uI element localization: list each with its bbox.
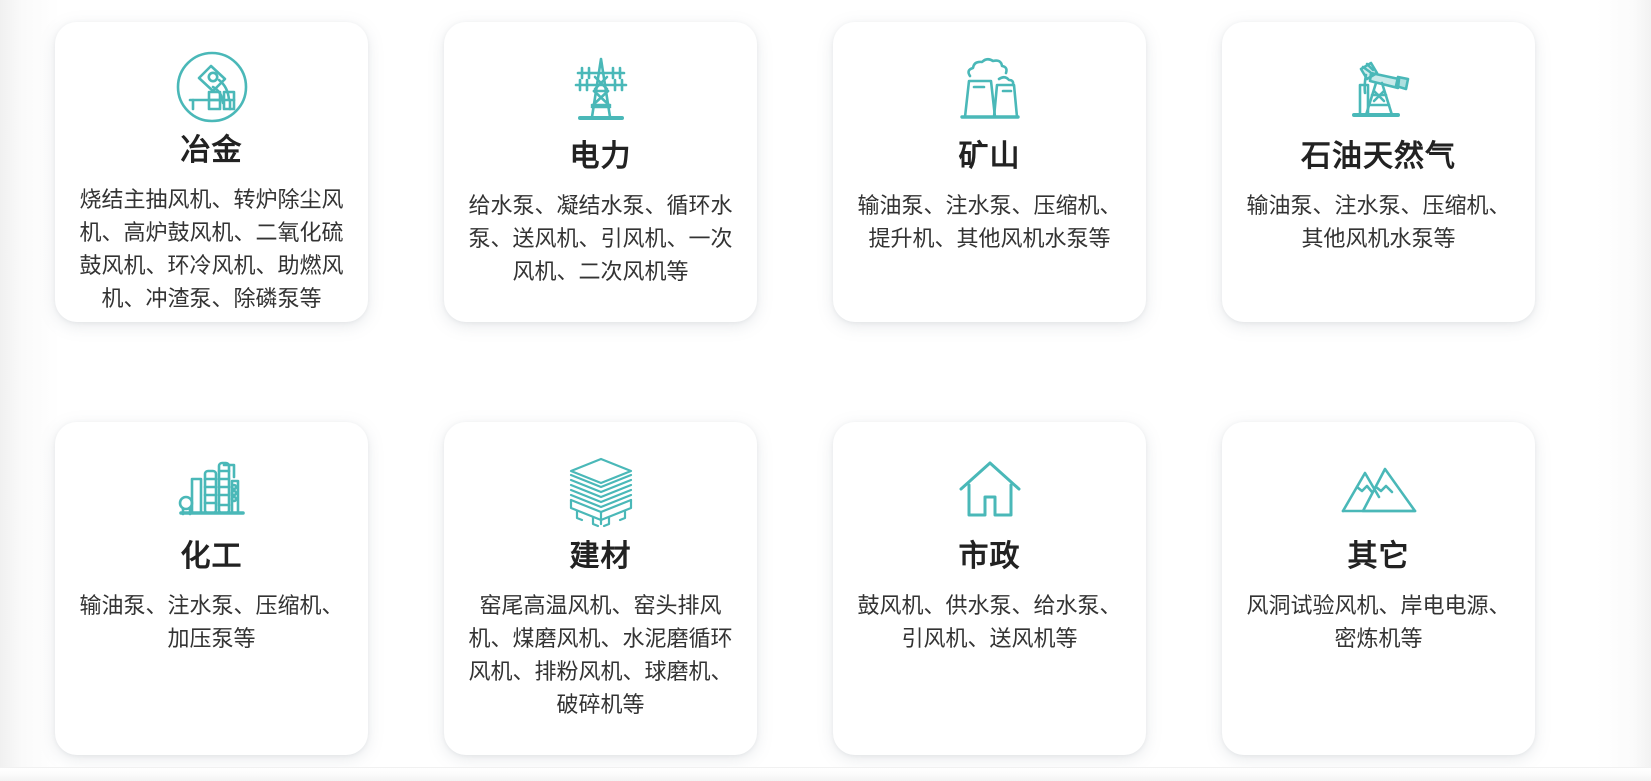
card-description: 输油泵、注水泵、压缩机、其他风机水泵等 [1240,189,1517,255]
chemical-plant-towers-icon [169,444,255,536]
industry-card-chemical[interactable]: 化工 输油泵、注水泵、压缩机、加压泵等 [55,422,368,755]
card-title: 其它 [1348,540,1410,573]
metallurgy-ladle-icon [169,44,255,130]
industry-card-oil-gas[interactable]: 石油天然气 输油泵、注水泵、压缩机、其他风机水泵等 [1222,22,1535,322]
municipal-house-icon [947,444,1033,536]
card-title: 化工 [181,540,243,573]
mine-factory-smokestack-icon [947,44,1033,136]
industry-card-grid: 冶金 烧结主抽风机、转炉除尘风机、高炉鼓风机、二氧化硫鼓风机、环冷风机、助燃风机… [0,0,1651,781]
card-description: 输油泵、注水泵、压缩机、加压泵等 [73,589,350,655]
oil-pumpjack-icon [1336,44,1422,136]
industry-card-mining[interactable]: 矿山 输油泵、注水泵、压缩机、提升机、其他风机水泵等 [833,22,1146,322]
power-transmission-tower-icon [558,44,644,136]
card-title: 市政 [959,540,1021,573]
card-title: 建材 [570,540,632,573]
other-mountains-icon [1333,444,1425,536]
card-title: 冶金 [181,134,243,167]
card-description: 风洞试验风机、岸电电源、密炼机等 [1240,589,1517,655]
building-material-stack-icon [555,444,647,536]
card-description: 鼓风机、供水泵、给水泵、引风机、送风机等 [851,589,1128,655]
card-title: 矿山 [959,140,1021,173]
industry-card-metallurgy[interactable]: 冶金 烧结主抽风机、转炉除尘风机、高炉鼓风机、二氧化硫鼓风机、环冷风机、助燃风机… [55,22,368,322]
card-description: 输油泵、注水泵、压缩机、提升机、其他风机水泵等 [851,189,1128,255]
card-description: 给水泵、凝结水泵、循环水泵、送风机、引风机、一次风机、二次风机等 [462,189,739,288]
industry-card-power[interactable]: 电力 给水泵、凝结水泵、循环水泵、送风机、引风机、一次风机、二次风机等 [444,22,757,322]
industry-card-building-material[interactable]: 建材 窑尾高温风机、窑头排风机、煤磨风机、水泥磨循环风机、排粉风机、球磨机、破碎… [444,422,757,755]
industry-card-municipal[interactable]: 市政 鼓风机、供水泵、给水泵、引风机、送风机等 [833,422,1146,755]
card-description: 烧结主抽风机、转炉除尘风机、高炉鼓风机、二氧化硫鼓风机、环冷风机、助燃风机、冲渣… [73,183,350,315]
card-title: 电力 [570,140,632,173]
card-description: 窑尾高温风机、窑头排风机、煤磨风机、水泥磨循环风机、排粉风机、球磨机、破碎机等 [462,589,739,721]
industry-card-other[interactable]: 其它 风洞试验风机、岸电电源、密炼机等 [1222,422,1535,755]
card-title: 石油天然气 [1301,140,1456,173]
